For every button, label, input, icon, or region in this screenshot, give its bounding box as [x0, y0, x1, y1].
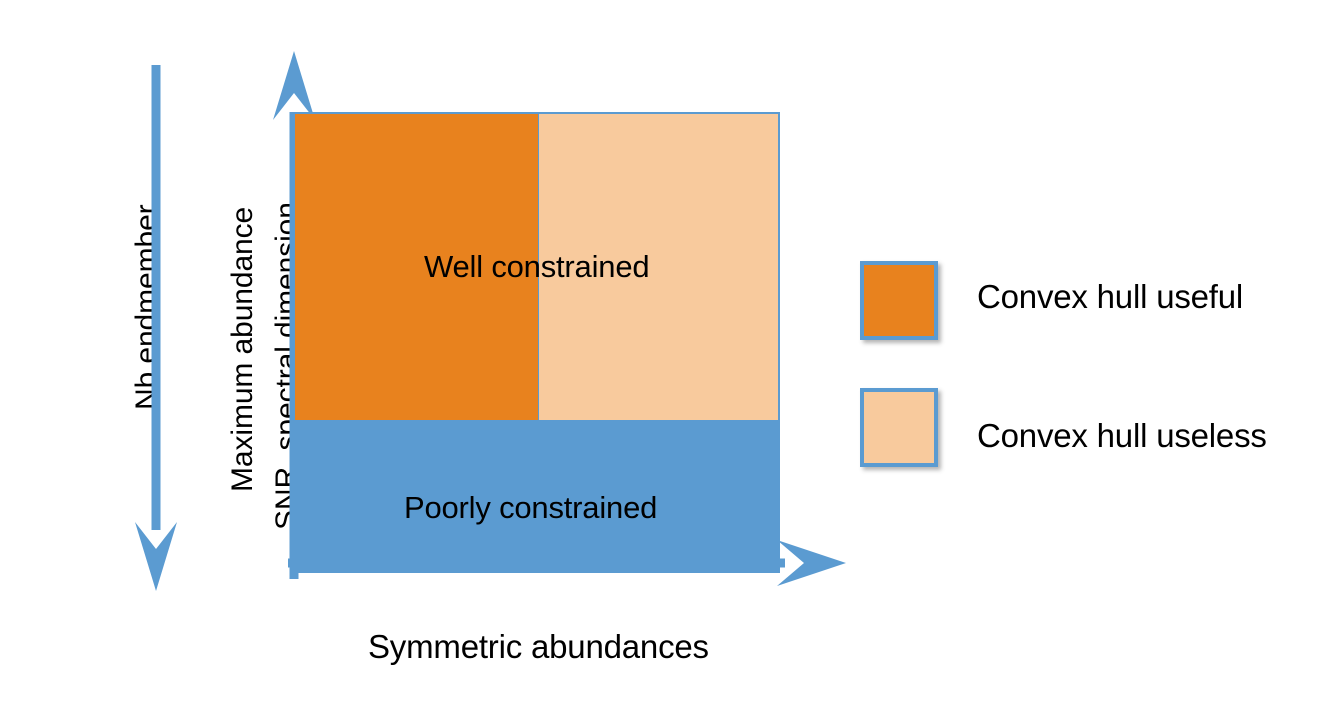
legend: Convex hull useful Convex hull useless [857, 258, 1317, 473]
legend-item-convex-hull-useless: Convex hull useless [857, 385, 1317, 467]
region-caption-poorly-constrained: Poorly constrained [404, 492, 657, 523]
x-axis-label-symmetric-abundances: Symmetric abundances [368, 630, 709, 664]
legend-label-convex-hull-useless: Convex hull useless [977, 419, 1267, 453]
legend-label-convex-hull-useful: Convex hull useful [977, 280, 1243, 314]
diagram-canvas: Nb endmember Maximum abundance SNR, spec… [0, 0, 1335, 724]
region-caption-well-constrained: Well constrained [424, 251, 649, 282]
nb-endmember-down-arrow-icon [133, 60, 179, 596]
legend-swatch-convex-hull-useful [860, 261, 938, 340]
y-axis-label-maximum-abundance: Maximum abundance [228, 207, 258, 492]
legend-item-convex-hull-useful: Convex hull useful [857, 258, 1317, 340]
legend-swatch-convex-hull-useless [860, 388, 938, 467]
